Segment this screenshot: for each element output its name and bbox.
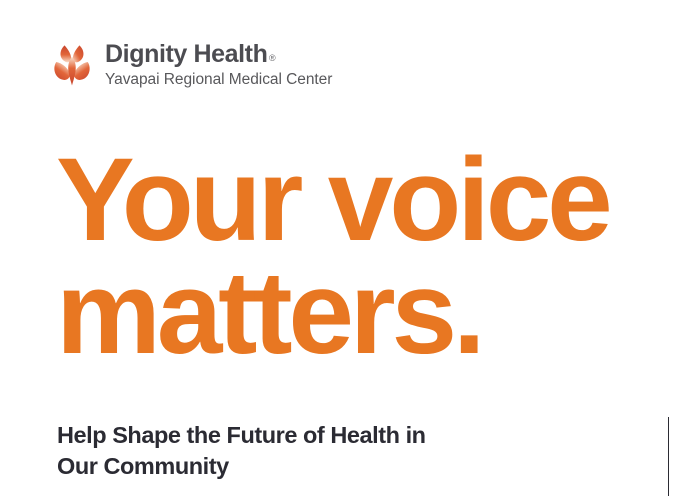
subheading-line-2: Our Community <box>57 451 426 482</box>
subheading: Help Shape the Future of Health in Our C… <box>57 420 426 483</box>
subheading-line-1: Help Shape the Future of Health in <box>57 420 426 451</box>
right-edge-rule <box>668 417 669 496</box>
headline-line-1: Your voice <box>56 144 609 257</box>
brand-name-row: Dignity Health ® <box>105 41 332 67</box>
brand-tagline: Yavapai Regional Medical Center <box>105 71 332 90</box>
brand-name: Dignity Health <box>105 41 267 67</box>
headline: Your voice matters. <box>56 144 609 369</box>
poster-canvas: Dignity Health ® Yavapai Regional Medica… <box>0 0 676 496</box>
registered-trademark-icon: ® <box>269 54 276 63</box>
headline-line-2: matters. <box>56 257 609 370</box>
brand-lockup[interactable]: Dignity Health ® Yavapai Regional Medica… <box>50 40 332 90</box>
brand-wordmark: Dignity Health ® Yavapai Regional Medica… <box>105 40 332 90</box>
dignity-health-petal-figure-icon <box>50 41 94 89</box>
